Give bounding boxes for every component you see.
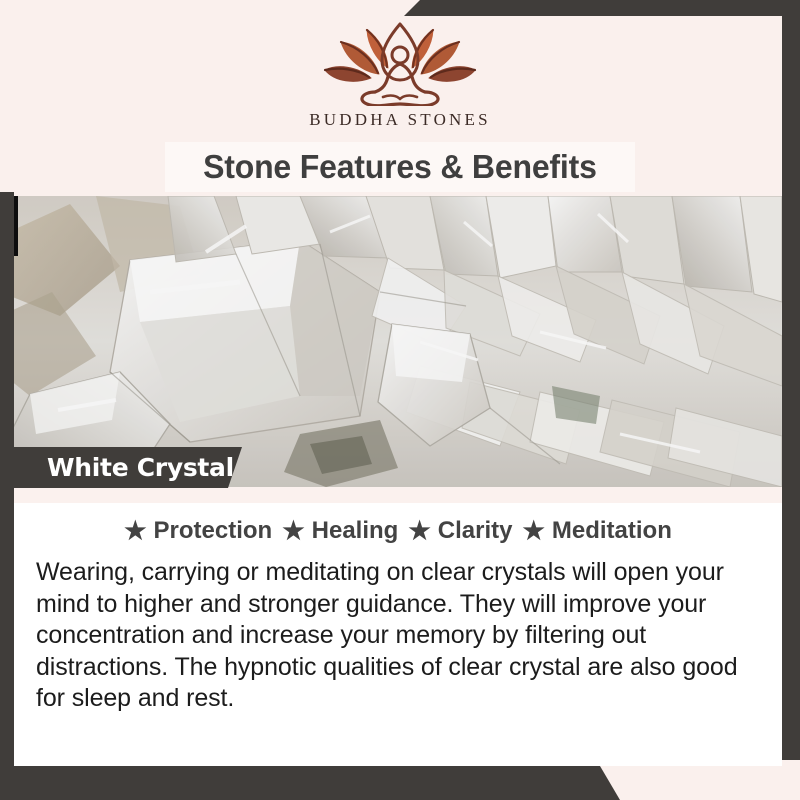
description-paragraph: Wearing, carrying or meditating on clear… <box>32 557 764 715</box>
frame-bottom-left-accent <box>0 766 800 800</box>
frame-left-border <box>0 192 14 800</box>
benefit-item-meditation: ★ Meditation <box>522 517 671 545</box>
body-top-strip <box>14 487 782 503</box>
benefits-list: ★ Protection ★ Healing ★ Clarity ★ Medit… <box>32 517 764 545</box>
benefit-item-healing: ★ Healing <box>282 517 398 545</box>
white-crystal-cluster-photo <box>0 196 782 487</box>
lotus-meditation-figure-icon <box>315 22 485 106</box>
star-icon: ★ <box>408 519 430 544</box>
star-icon: ★ <box>522 519 544 544</box>
benefit-label: Meditation <box>552 517 672 545</box>
benefit-item-clarity: ★ Clarity <box>408 517 512 545</box>
brand-logo: BUDDHA STONES <box>0 22 800 130</box>
stone-name-label: White Crystal <box>14 453 234 482</box>
page-title-box: Stone Features & Benefits <box>165 142 635 192</box>
page-title: Stone Features & Benefits <box>203 148 597 186</box>
star-icon: ★ <box>282 519 304 544</box>
benefit-item-protection: ★ Protection <box>124 517 272 545</box>
star-icon: ★ <box>124 519 146 544</box>
benefit-label: Healing <box>312 517 399 545</box>
frame-right-border <box>782 0 800 760</box>
benefit-label: Clarity <box>438 517 513 545</box>
brand-name: BUDDHA STONES <box>309 110 491 130</box>
status-badge: White Crystal <box>14 447 242 488</box>
body-section: ★ Protection ★ Healing ★ Clarity ★ Medit… <box>14 503 782 766</box>
crystal-photo-graphic <box>0 196 782 487</box>
benefit-label: Protection <box>154 517 273 545</box>
infographic-card: BUDDHA STONES Stone Features & Benefits <box>0 0 800 800</box>
